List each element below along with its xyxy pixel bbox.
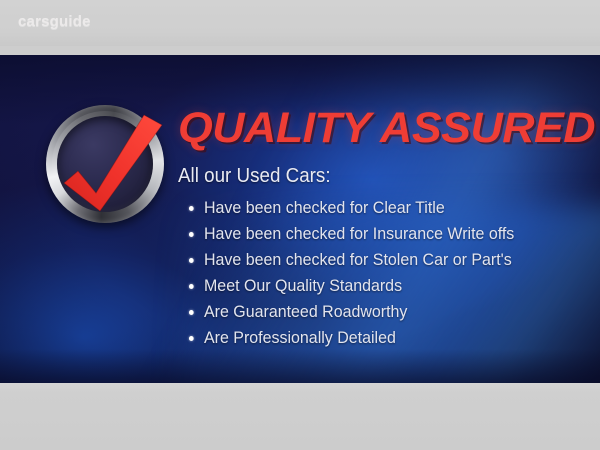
- list-item: Meet Our Quality Standards: [204, 273, 556, 299]
- list-item: Are Professionally Detailed: [204, 325, 556, 351]
- quality-assured-banner: QUALITY ASSURED All our Used Cars: Have …: [0, 55, 600, 383]
- check-mark-icon: [40, 99, 170, 229]
- list-item: Have been checked for Insurance Write of…: [204, 221, 556, 247]
- list-item: Have been checked for Stolen Car or Part…: [204, 247, 556, 273]
- list-item: Have been checked for Clear Title: [204, 195, 556, 221]
- list-item: Are Guaranteed Roadworthy: [204, 299, 556, 325]
- benefits-list: Have been checked for Clear Title Have b…: [178, 195, 578, 351]
- screenshot-stage: carsguide: [0, 0, 600, 450]
- carsguide-watermark: carsguide: [18, 13, 91, 30]
- quality-assured-badge: [40, 99, 170, 229]
- banner-bottom-shade: [0, 349, 600, 383]
- bottom-gray-plate: [0, 383, 600, 450]
- headline-quality-assured: QUALITY ASSURED: [178, 105, 594, 151]
- subhead-all-our-used-cars: All our Used Cars:: [178, 165, 554, 187]
- banner-copy: QUALITY ASSURED All our Used Cars: Have …: [178, 105, 578, 351]
